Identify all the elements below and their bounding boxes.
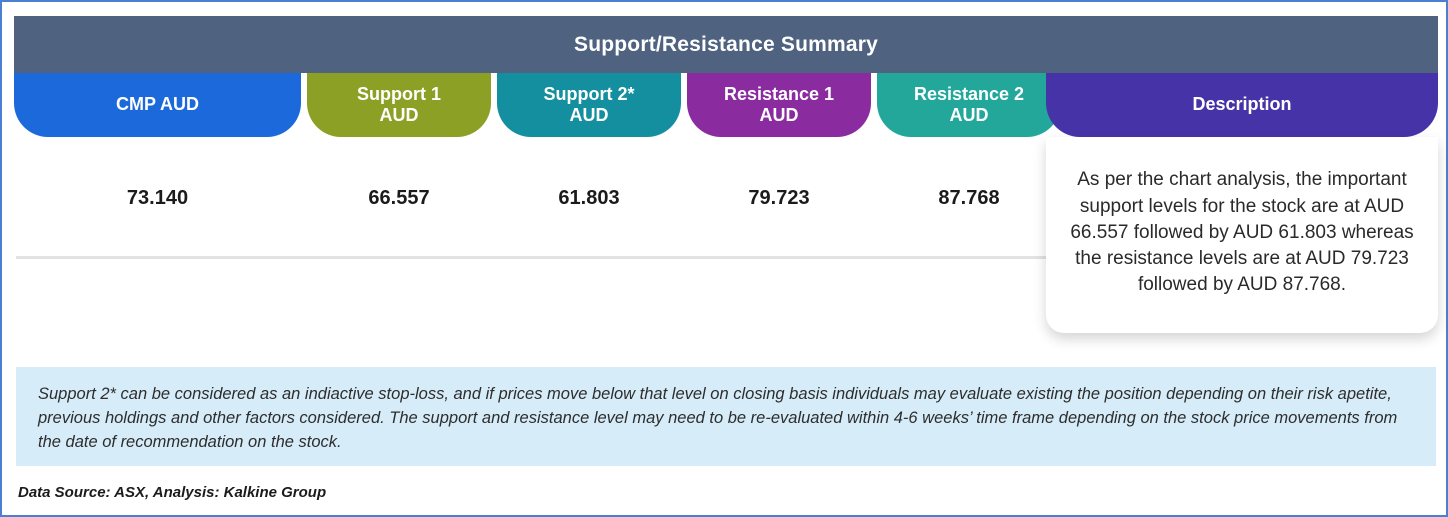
value-support2: 61.803 (497, 183, 681, 213)
column-header-resistance2-label-line2: AUD (950, 105, 989, 126)
description-card: As per the chart analysis, the important… (1046, 137, 1438, 333)
column-header-resistance2-label-line1: Resistance 2 (914, 84, 1024, 105)
page-title: Support/Resistance Summary (574, 33, 878, 57)
column-header-support1-label-line1: Support 1 (357, 84, 441, 105)
disclaimer-text: Support 2* can be considered as an india… (38, 383, 1414, 455)
column-header-support2: Support 2* AUD (497, 73, 681, 137)
value-resistance2-text: 87.768 (938, 187, 999, 210)
column-header-support1: Support 1 AUD (307, 73, 491, 137)
column-header-support2-label-line2: AUD (570, 105, 609, 126)
column-header-resistance1-label-line1: Resistance 1 (724, 84, 834, 105)
column-header-resistance1: Resistance 1 AUD (687, 73, 871, 137)
value-cmp: 73.140 (14, 183, 301, 213)
value-cmp-text: 73.140 (127, 187, 188, 210)
summary-title-bar: Support/Resistance Summary (14, 16, 1438, 73)
value-support1: 66.557 (307, 183, 491, 213)
column-header-support2-label-line1: Support 2* (543, 84, 634, 105)
column-header-support1-label-line2: AUD (380, 105, 419, 126)
support-resistance-summary-card: Support/Resistance Summary CMP AUD Suppo… (0, 0, 1448, 517)
column-header-pill-row: CMP AUD Support 1 AUD Support 2* AUD Res… (14, 73, 1438, 137)
column-header-resistance1-label-line2: AUD (760, 105, 799, 126)
value-support1-text: 66.557 (368, 187, 429, 210)
value-resistance1: 79.723 (687, 183, 871, 213)
data-source-footer: Data Source: ASX, Analysis: Kalkine Grou… (18, 484, 326, 501)
value-support2-text: 61.803 (558, 187, 619, 210)
column-header-cmp-label-line1: CMP AUD (116, 94, 199, 115)
column-header-description-label-line1: Description (1192, 94, 1291, 115)
value-resistance1-text: 79.723 (748, 187, 809, 210)
column-header-resistance2: Resistance 2 AUD (877, 73, 1061, 137)
value-resistance2: 87.768 (877, 183, 1061, 213)
disclaimer-box: Support 2* can be considered as an india… (16, 367, 1436, 466)
description-text: As per the chart analysis, the important… (1064, 167, 1420, 298)
column-header-description: Description (1046, 73, 1438, 137)
column-header-cmp: CMP AUD (14, 73, 301, 137)
